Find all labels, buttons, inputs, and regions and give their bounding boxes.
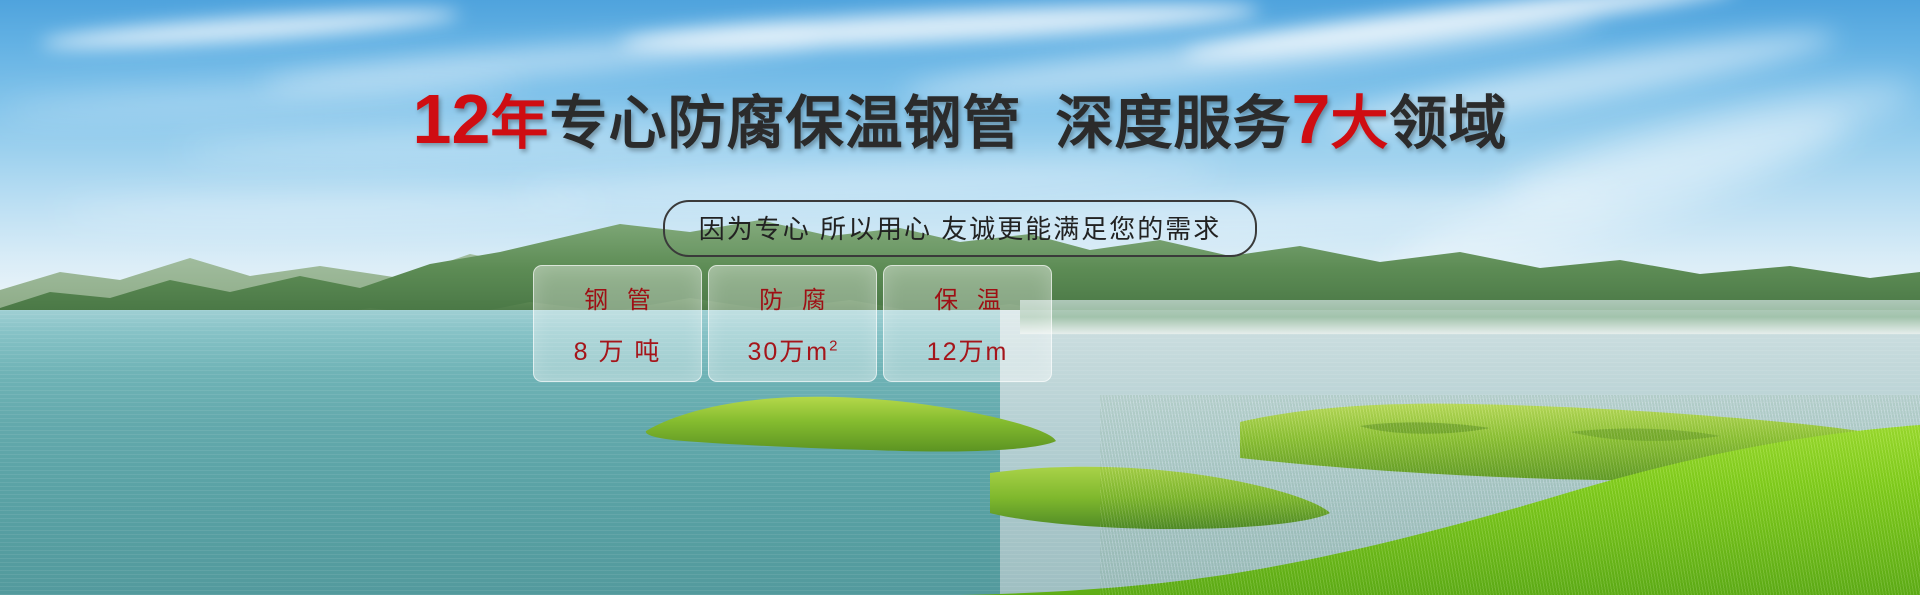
- headline-years-unit: 年: [490, 91, 549, 156]
- stat-card-group: 钢 管 8 万 吨 防 腐 30万m2 保 温 12万m: [533, 265, 1052, 382]
- stat-card-value-text: 12万m: [927, 338, 1009, 366]
- stat-card-anticorrosion[interactable]: 防 腐 30万m2: [708, 265, 877, 382]
- stat-card-value-text: 8 万 吨: [574, 338, 662, 366]
- stat-card-value-superscript: 2: [829, 337, 837, 354]
- subtitle-container: 因为专心 所以用心 友诚更能满足您的需求: [0, 200, 1920, 257]
- headline-fields-number: 7: [1291, 80, 1330, 158]
- stat-card-value: 12万m: [927, 332, 1009, 368]
- headline-main-phrase: 专心防腐保温钢管: [549, 91, 1021, 156]
- stat-card-insulation[interactable]: 保 温 12万m: [883, 265, 1052, 382]
- headline-years-number: 12: [413, 80, 491, 158]
- stat-card-steel-pipe[interactable]: 钢 管 8 万 吨: [533, 265, 702, 382]
- banner-content: 12年专心防腐保温钢管深度服务7大领域 因为专心 所以用心 友诚更能满足您的需求…: [0, 0, 1920, 595]
- headline-service-phrase: 深度服务: [1055, 91, 1291, 156]
- stat-card-value: 30万m2: [748, 332, 838, 368]
- stat-card-label: 钢 管: [578, 280, 657, 315]
- stat-card-label: 防 腐: [753, 280, 832, 315]
- stat-card-value: 8 万 吨: [574, 332, 662, 368]
- hero-banner: 12年专心防腐保温钢管深度服务7大领域 因为专心 所以用心 友诚更能满足您的需求…: [0, 0, 1920, 595]
- stat-card-label: 保 温: [928, 280, 1007, 315]
- stat-card-value-text: 30万m: [748, 338, 830, 366]
- page-title: 12年专心防腐保温钢管深度服务7大领域: [0, 84, 1920, 154]
- subtitle-pill: 因为专心 所以用心 友诚更能满足您的需求: [663, 200, 1257, 257]
- headline-fields-word: 领域: [1389, 91, 1507, 156]
- headline-fields-unit: 大: [1330, 91, 1389, 156]
